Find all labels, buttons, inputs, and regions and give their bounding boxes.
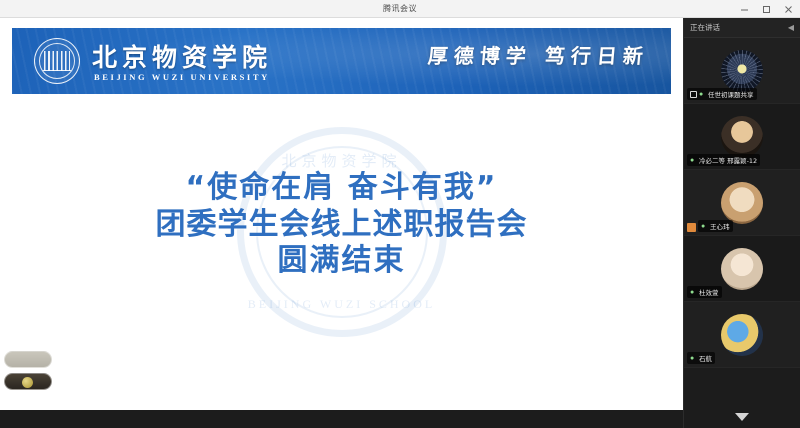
avatar: [721, 116, 763, 158]
camera-icon: [690, 91, 697, 98]
participant-name: 王心玮: [710, 221, 730, 231]
close-button[interactable]: [778, 1, 798, 17]
microphone-icon: ●: [701, 223, 708, 230]
participant-name-bar: ● 冷必二等 邢露颖-12: [687, 154, 760, 166]
window-controls: [734, 0, 798, 18]
participant-tile-3[interactable]: ● 王心玮: [684, 170, 800, 236]
avatar: [721, 182, 763, 224]
slide-header-banner: 北京物资学院 BEIJING WUZI UNIVERSITY 厚德博学 笃行日新: [12, 26, 671, 96]
participant-name: 冷必二等 邢露颖-12: [699, 155, 757, 165]
collapse-icon[interactable]: ◀: [788, 23, 794, 32]
avatar: [721, 314, 763, 356]
slide-title-line-1: “使命在肩 奋斗有我”: [0, 170, 683, 207]
banner-top-strip: [12, 26, 671, 28]
participant-name: 任世初课题共享: [708, 89, 754, 99]
host-badge: [687, 223, 696, 232]
university-motto: 厚德博学 笃行日新: [427, 40, 651, 69]
window-title: 腾讯会议: [383, 3, 417, 14]
window-title-bar: 腾讯会议: [0, 0, 800, 18]
maximize-button[interactable]: [756, 1, 776, 17]
participant-name: 杜效萱: [699, 287, 719, 297]
self-view-thumbnail-1[interactable]: [4, 351, 52, 368]
avatar: [721, 248, 763, 290]
participant-tile-4[interactable]: ● 杜效萱: [684, 236, 800, 302]
participant-rail[interactable]: 正在讲话 ◀ ● 任世初课题共享 ● 冷必二等 邢露颖-12 ● 王心玮: [683, 18, 800, 428]
university-name-en: BEIJING WUZI UNIVERSITY: [94, 72, 270, 82]
participant-name-bar: ● 杜效萱: [687, 286, 722, 298]
university-name-cn: 北京物资学院: [92, 38, 272, 74]
slide-title-line-3: 圆满结束: [0, 243, 683, 280]
participant-tiles: ● 任世初课题共享 ● 冷必二等 邢露颖-12 ● 王心玮 ● 杜效萱: [684, 38, 800, 406]
minimize-button[interactable]: [734, 1, 754, 17]
watermark-text-bottom: BEIJING WUZI SCHOOL: [244, 297, 440, 312]
rail-header: 正在讲话 ◀: [684, 18, 800, 38]
presentation-slide: 北京物资学院 BEIJING WUZI UNIVERSITY 厚德博学 笃行日新…: [0, 18, 683, 410]
shared-screen-stage[interactable]: 北京物资学院 BEIJING WUZI UNIVERSITY 厚德博学 笃行日新…: [0, 18, 683, 410]
university-crest-icon: [34, 38, 80, 84]
participant-tile-5[interactable]: ● 石航: [684, 302, 800, 368]
slide-title-line-2: 团委学生会线上述职报告会: [0, 207, 683, 244]
microphone-icon: ●: [690, 289, 697, 296]
scroll-down-button[interactable]: [684, 406, 800, 428]
participant-tile-2[interactable]: ● 冷必二等 邢露颖-12: [684, 104, 800, 170]
participant-name-bar: ● 石航: [687, 352, 715, 364]
microphone-icon: ●: [699, 91, 706, 98]
chevron-down-icon: [735, 413, 749, 421]
microphone-icon: ●: [690, 157, 697, 164]
self-view-thumbnail-2[interactable]: [4, 373, 52, 390]
banner-bottom-strip: [12, 94, 671, 96]
participant-tile-1[interactable]: ● 任世初课题共享: [684, 38, 800, 104]
participant-name: 石航: [699, 353, 712, 363]
avatar: [721, 50, 763, 92]
participant-name-bar: ● 王心玮: [698, 220, 733, 232]
microphone-icon: ●: [690, 355, 697, 362]
slide-body-text: “使命在肩 奋斗有我” 团委学生会线上述职报告会 圆满结束: [0, 170, 683, 280]
rail-header-title: 正在讲话: [690, 22, 720, 33]
participant-name-bar: ● 任世初课题共享: [687, 88, 757, 100]
watermark-text-top: 北京物资学院: [244, 150, 440, 171]
self-view-thumbnails[interactable]: [4, 351, 52, 390]
